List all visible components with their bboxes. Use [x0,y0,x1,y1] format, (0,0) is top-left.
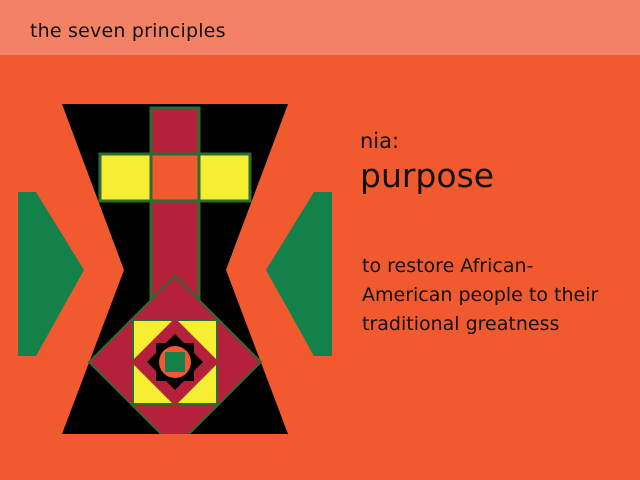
kwanzaa-nia-symbol-graphic [18,104,332,434]
medallion-green-center-square [165,352,185,372]
page-title: the seven principles [30,20,226,42]
principle-heading: purpose [360,157,625,195]
yellow-crossbar-left [100,154,151,201]
principle-label: nia: [360,130,625,153]
yellow-crossbar-right [199,154,250,201]
slide-canvas: the seven principles [0,0,640,480]
orange-center-square [151,154,199,201]
description-line: to restore African- [362,252,624,281]
header-band: the seven principles [0,0,640,55]
description-line: traditional greatness [362,310,624,339]
artwork-panel [18,104,332,434]
description-line: American people to their [362,281,624,310]
principle-description: to restore African- American people to t… [362,252,624,339]
text-column: nia: purpose [360,130,625,195]
